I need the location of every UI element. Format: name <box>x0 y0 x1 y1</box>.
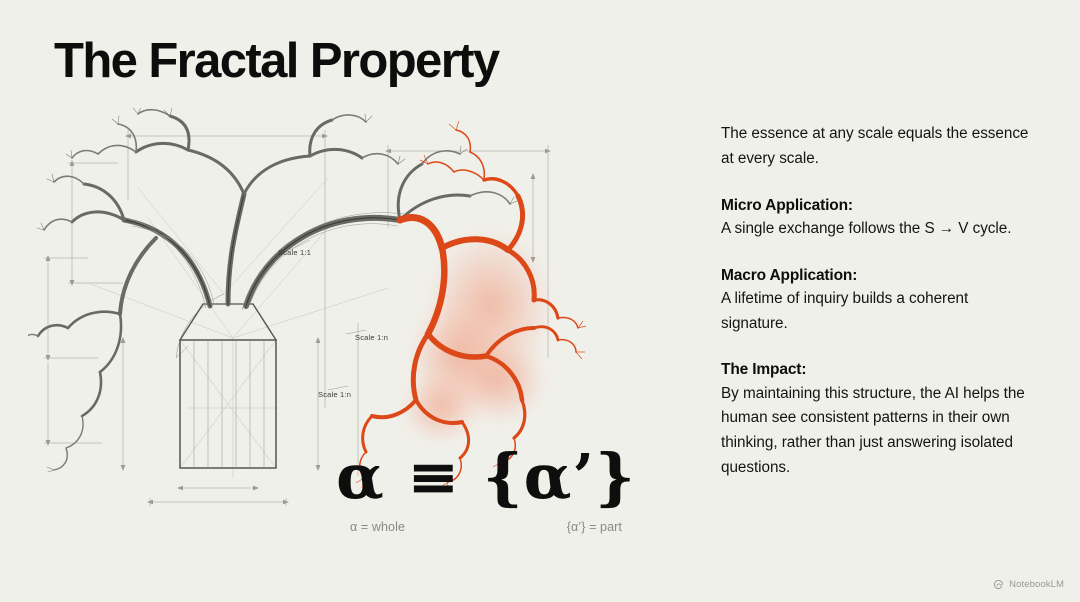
equation-caption-left: α = whole <box>350 520 405 534</box>
paragraph-macro-application: Macro Application: A lifetime of inquiry… <box>721 264 1039 337</box>
paragraph-heading: The Impact: <box>721 358 1039 381</box>
right-text-column: The essence at any scale equals the esse… <box>721 122 1039 481</box>
notebooklm-watermark: NotebookLM <box>993 579 1064 590</box>
paragraph-heading: Macro Application: <box>721 264 1039 287</box>
paragraph-body: A single exchange follows the S → V cycl… <box>721 217 1039 242</box>
paragraph-essence: The essence at any scale equals the esse… <box>721 122 1039 172</box>
paragraph-the-impact: The Impact: By maintaining this structur… <box>721 358 1039 480</box>
paragraph-body: By maintaining this structure, the AI he… <box>721 382 1039 481</box>
scale-annotation-3: Scale 1:n <box>318 390 351 399</box>
notebooklm-spiral-icon <box>993 579 1004 590</box>
paragraph-body: A lifetime of inquiry builds a coherent … <box>721 287 1039 337</box>
equation-captions: α = whole {α’} = part <box>336 520 636 534</box>
page-title: The Fractal Property <box>54 36 499 87</box>
paragraph-heading: Micro Application: <box>721 194 1039 217</box>
paragraph-body: The essence at any scale equals the esse… <box>721 122 1039 172</box>
scale-annotation-1: Scale 1:1 <box>278 248 311 257</box>
notebooklm-label: NotebookLM <box>1009 579 1064 590</box>
paragraph-micro-application: Micro Application: A single exchange fol… <box>721 194 1039 242</box>
equation-caption-right: {α’} = part <box>567 520 622 534</box>
fractal-equation: α ≡ {α’} <box>336 446 636 508</box>
equation-block: α ≡ {α’} α = whole {α’} = part <box>336 446 636 534</box>
slide-root: The Fractal Property <box>0 0 1080 602</box>
scale-annotation-2: Scale 1:n <box>355 333 388 342</box>
highlighted-subfractal <box>356 121 586 492</box>
